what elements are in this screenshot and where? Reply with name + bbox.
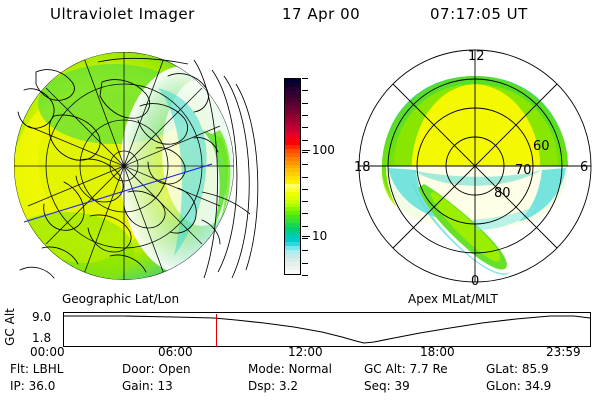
mlt-label-0: 0 — [471, 274, 479, 289]
time-tick-label: 06:00 — [158, 346, 193, 358]
colorbar-major-tick — [302, 150, 310, 151]
colorbar-tick-label: 100 — [312, 144, 335, 156]
mlt-label-6: 6 — [580, 160, 588, 175]
colorbar-minor-tick — [302, 78, 308, 79]
alt-tick-max: 9.0 — [32, 311, 51, 323]
colorbar-minor-tick — [302, 201, 308, 202]
status-field: GC Alt: 7.7 Re — [364, 362, 448, 376]
status-field: Flt: LBHL — [10, 362, 63, 376]
colorbar-gradient — [284, 78, 301, 275]
status-field: Dsp: 3.2 — [248, 379, 298, 393]
mlt-label-18: 18 — [354, 160, 371, 175]
colorbar-segment — [285, 270, 300, 274]
orbit-plot-box[interactable] — [63, 312, 591, 347]
gc-alt-axis-label: GC Alt — [3, 304, 17, 350]
colorbar-minor-tick — [302, 140, 308, 141]
status-row: Flt: LBHLDoor: OpenMode: NormalGC Alt: 7… — [0, 362, 600, 379]
mlt-label-12: 12 — [468, 49, 485, 64]
observation-time: 07:17:05 UT — [430, 5, 528, 23]
geographic-globe-panel[interactable] — [6, 42, 264, 290]
colorbar-minor-tick — [302, 103, 308, 104]
time-tick-label: 23:59 — [546, 346, 581, 358]
status-field: Gain: 13 — [122, 379, 173, 393]
apex-polar-image: 12 6 0 18 60 70 80 — [352, 42, 598, 290]
orbit-altitude-curve — [64, 313, 590, 346]
time-tick-label: 12:00 — [288, 346, 323, 358]
colorbar-minor-tick — [302, 177, 308, 178]
observation-date: 17 Apr 00 — [282, 5, 360, 23]
colorbar-panel: photon cm-2s-1 10010 — [262, 70, 354, 285]
status-row: IP: 36.0Gain: 13Dsp: 3.2Seq: 39GLon: 34.… — [0, 379, 600, 396]
colorbar-minor-tick — [302, 90, 308, 91]
right-panel-caption: Apex MLat/MLT — [408, 292, 498, 306]
latitude-label-80: 80 — [494, 186, 511, 201]
current-time-marker — [216, 314, 217, 347]
geographic-globe-image — [6, 42, 264, 290]
colorbar-minor-tick — [302, 213, 308, 214]
colorbar-minor-tick — [302, 263, 308, 264]
colorbar-minor-tick — [302, 115, 308, 116]
header-bar: Ultraviolet Imager 17 Apr 00 07:17:05 UT — [0, 5, 600, 31]
colorbar-minor-tick — [302, 250, 308, 251]
latitude-label-70: 70 — [515, 163, 532, 178]
status-field: Seq: 39 — [364, 379, 410, 393]
colorbar-minor-tick — [302, 238, 308, 239]
colorbar-tick-label: 10 — [312, 230, 327, 242]
time-tick-label: 18:00 — [420, 346, 455, 358]
status-field: GLat: 85.9 — [486, 362, 549, 376]
orbit-altitude-strip[interactable]: GC Alt 9.0 1.8 00:0006:0012:0018:0023:59 — [0, 306, 600, 356]
colorbar-minor-tick — [302, 275, 308, 276]
status-block: Flt: LBHLDoor: OpenMode: NormalGC Alt: 7… — [0, 362, 600, 400]
colorbar-major-tick — [302, 236, 310, 237]
colorbar-minor-tick — [302, 164, 308, 165]
colorbar-minor-tick — [302, 127, 308, 128]
left-panel-caption: Geographic Lat/Lon — [62, 292, 179, 306]
time-tick-label: 00:00 — [30, 346, 65, 358]
status-field: Door: Open — [122, 362, 191, 376]
uvi-display-root: Ultraviolet Imager 17 Apr 00 07:17:05 UT — [0, 0, 600, 400]
colorbar-minor-tick — [302, 152, 308, 153]
colorbar-minor-tick — [302, 226, 308, 227]
latitude-label-60: 60 — [533, 139, 550, 154]
apex-polar-panel[interactable]: 12 6 0 18 60 70 80 — [352, 42, 598, 290]
alt-tick-min: 1.8 — [32, 332, 51, 344]
status-field: IP: 36.0 — [10, 379, 55, 393]
status-field: GLon: 34.9 — [486, 379, 551, 393]
colorbar-minor-tick — [302, 189, 308, 190]
status-field: Mode: Normal — [248, 362, 332, 376]
instrument-title: Ultraviolet Imager — [50, 5, 195, 23]
